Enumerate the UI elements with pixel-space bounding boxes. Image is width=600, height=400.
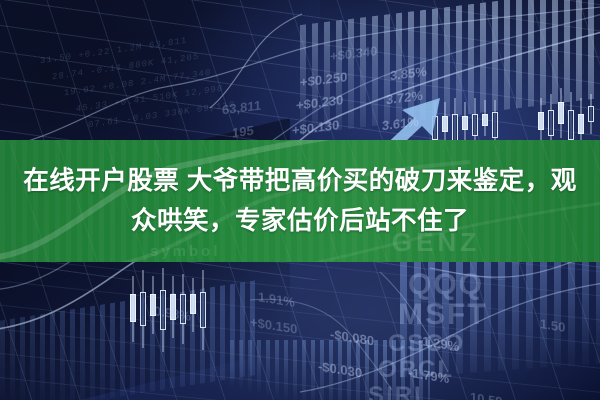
trend-line-steep xyxy=(210,14,302,108)
banner-image: 31.50 +0.22 1.2M 63,811 28.74 -0.11 880K… xyxy=(0,0,600,400)
ticker-symbol: ORCL xyxy=(378,356,454,384)
ticker-symbol: CSCO xyxy=(388,330,465,358)
ticker-symbol: SIRI xyxy=(368,382,423,400)
value-label: 195 xyxy=(232,123,254,141)
headline-text: 在线开户股票 大爷带把高价买的破刀来鉴定，观众哄笑，专家估价后站不住了 xyxy=(0,161,600,241)
ticker-symbol: MSFT xyxy=(398,298,488,332)
band-watermark-secondary: symbol xyxy=(150,243,221,260)
ticker-symbol: QQQ xyxy=(408,268,484,302)
